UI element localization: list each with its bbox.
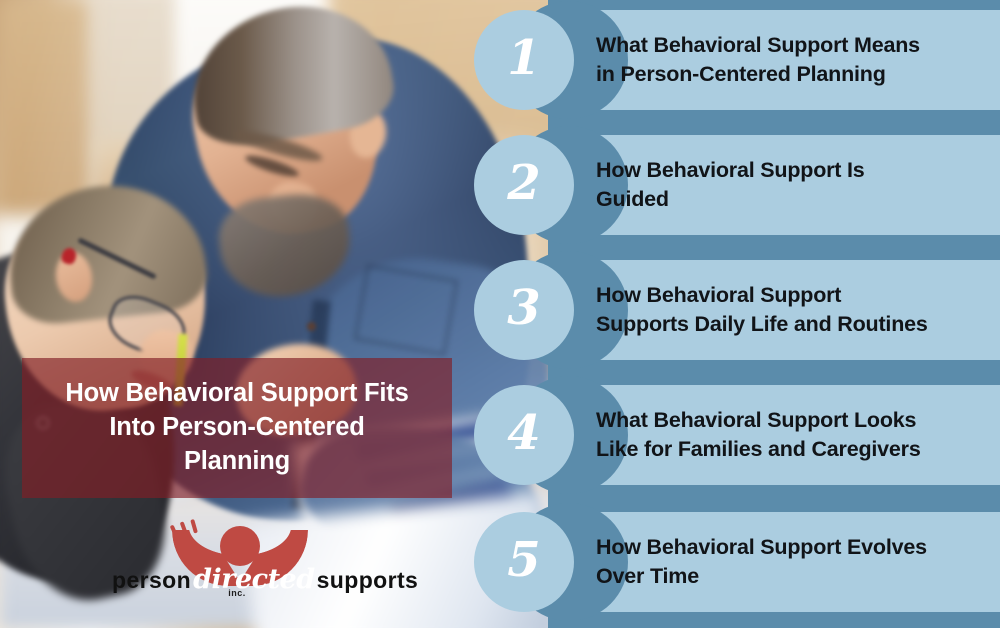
list-item-label: How Behavioral Support Supports Daily Li… <box>596 260 990 360</box>
topics-list: What Behavioral Support Means in Person-… <box>548 0 1000 628</box>
list-item-number: 1 <box>507 34 540 86</box>
logo: persondirectedsupports inc. <box>112 524 362 604</box>
list-item[interactable]: How Behavioral Support Is Guided <box>548 135 1000 235</box>
list-item[interactable]: How Behavioral Support Evolves Over Time <box>548 512 1000 612</box>
title-overlay: How Behavioral Support Fits Into Person-… <box>22 358 452 498</box>
logo-head-shape <box>220 526 260 566</box>
list-item-number-badge: 5 <box>474 512 574 612</box>
list-item-number: 3 <box>507 284 540 336</box>
infographic-canvas: How Behavioral Support Fits Into Person-… <box>0 0 1000 628</box>
logo-inc-suffix: inc. <box>112 588 362 598</box>
list-item-number-badge: 4 <box>474 385 574 485</box>
list-item-number: 4 <box>507 409 540 461</box>
list-item-label: How Behavioral Support Evolves Over Time <box>596 512 990 612</box>
list-item-number-badge: 2 <box>474 135 574 235</box>
list-item-label: What Behavioral Support Means in Person-… <box>596 10 990 110</box>
photo-adult-shirt-button <box>307 322 316 331</box>
list-item-label: What Behavioral Support Looks Like for F… <box>596 385 990 485</box>
list-item-number-badge: 3 <box>474 260 574 360</box>
photo-adult-shirt-pocket <box>354 265 458 356</box>
topics-panel: What Behavioral Support Means in Person-… <box>548 0 1000 628</box>
page-title: How Behavioral Support Fits Into Person-… <box>65 377 408 479</box>
list-item[interactable]: How Behavioral Support Supports Daily Li… <box>548 260 1000 360</box>
list-item-number: 2 <box>507 159 540 211</box>
list-item[interactable]: What Behavioral Support Means in Person-… <box>548 10 1000 110</box>
list-item-number-badge: 1 <box>474 10 574 110</box>
list-item-label: How Behavioral Support Is Guided <box>596 135 990 235</box>
list-item[interactable]: What Behavioral Support Looks Like for F… <box>548 385 1000 485</box>
list-item-number: 5 <box>507 536 540 588</box>
